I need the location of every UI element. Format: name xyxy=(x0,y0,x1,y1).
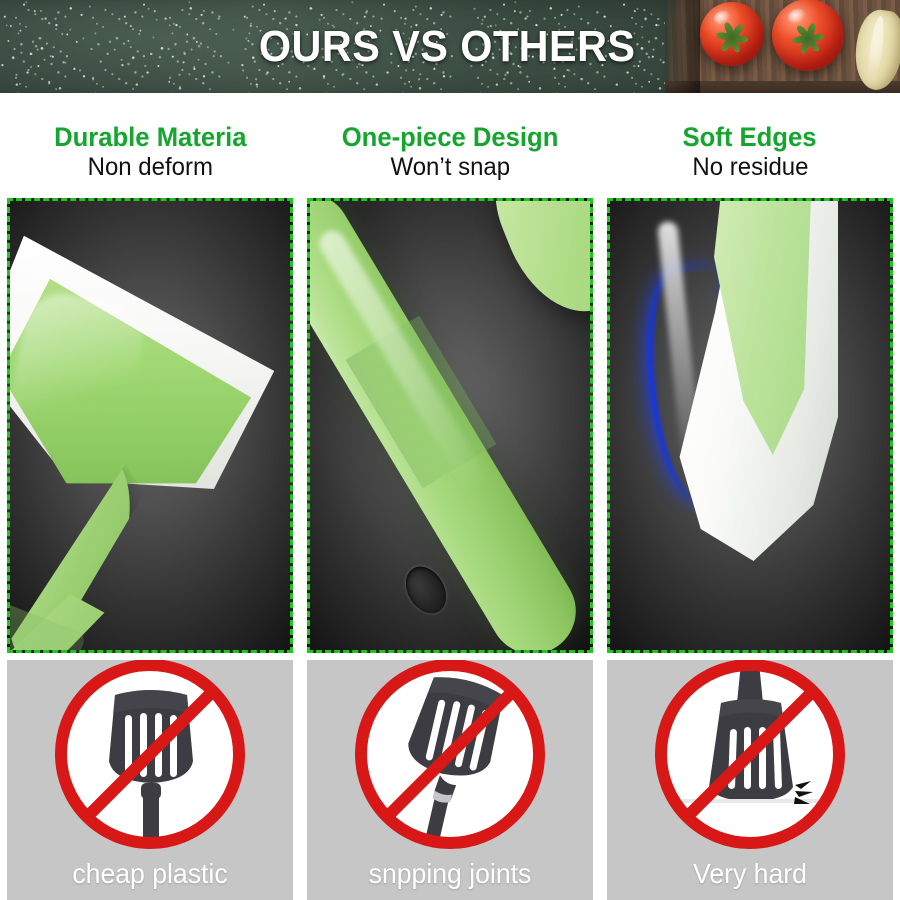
no-entry-icon xyxy=(55,660,245,849)
spatula-head-tip xyxy=(477,201,590,331)
others-caption: cheap plastic xyxy=(14,860,286,888)
others-panel: cheap plastic xyxy=(7,660,293,900)
spatula-edge-photo xyxy=(607,198,893,653)
feature-title: One-piece Design xyxy=(342,123,559,152)
others-caption: snpping joints xyxy=(314,860,586,888)
page-title: OURS VS OTHERS xyxy=(27,0,873,93)
others-panel: Very hard xyxy=(607,660,893,900)
others-cell-snapping-joints: snpping joints xyxy=(300,660,600,900)
header-banner: OURS VS OTHERS xyxy=(0,0,900,93)
feature-headings: Durable Materia Non deform One-piece Des… xyxy=(0,93,900,198)
others-panel: snpping joints xyxy=(307,660,593,900)
no-entry-icon xyxy=(355,660,545,849)
ours-photo-cell-1 xyxy=(0,196,300,656)
others-caption: Very hard xyxy=(614,860,886,888)
ours-photo-cell-3 xyxy=(600,196,900,656)
others-cell-very-hard: Very hard xyxy=(600,660,900,900)
feature-heading-soft-edges: Soft Edges No residue xyxy=(600,93,900,198)
photo-content xyxy=(310,201,590,650)
feature-heading-one-piece-design: One-piece Design Won’t snap xyxy=(300,93,600,198)
feature-subtitle: Won’t snap xyxy=(390,154,510,182)
feature-title: Durable Materia xyxy=(54,123,246,152)
spatula-head-photo xyxy=(7,198,293,653)
ours-photo-cell-2 xyxy=(300,196,600,656)
feature-heading-durable-material: Durable Materia Non deform xyxy=(0,93,300,198)
hanging-hole xyxy=(398,559,455,620)
no-entry-icon xyxy=(655,660,845,849)
others-cell-cheap-plastic: cheap plastic xyxy=(0,660,300,900)
feature-title: Soft Edges xyxy=(683,123,817,152)
infographic-page: OURS VS OTHERS Durable Materia Non defor… xyxy=(0,0,900,900)
ours-photo-row xyxy=(0,196,900,656)
photo-content xyxy=(610,201,890,650)
feature-subtitle: No residue xyxy=(692,154,808,182)
others-comparison-row: cheap plastic xyxy=(0,660,900,900)
feature-subtitle: Non deform xyxy=(87,154,212,182)
spatula-handle-photo xyxy=(307,198,593,653)
photo-content xyxy=(10,201,290,650)
